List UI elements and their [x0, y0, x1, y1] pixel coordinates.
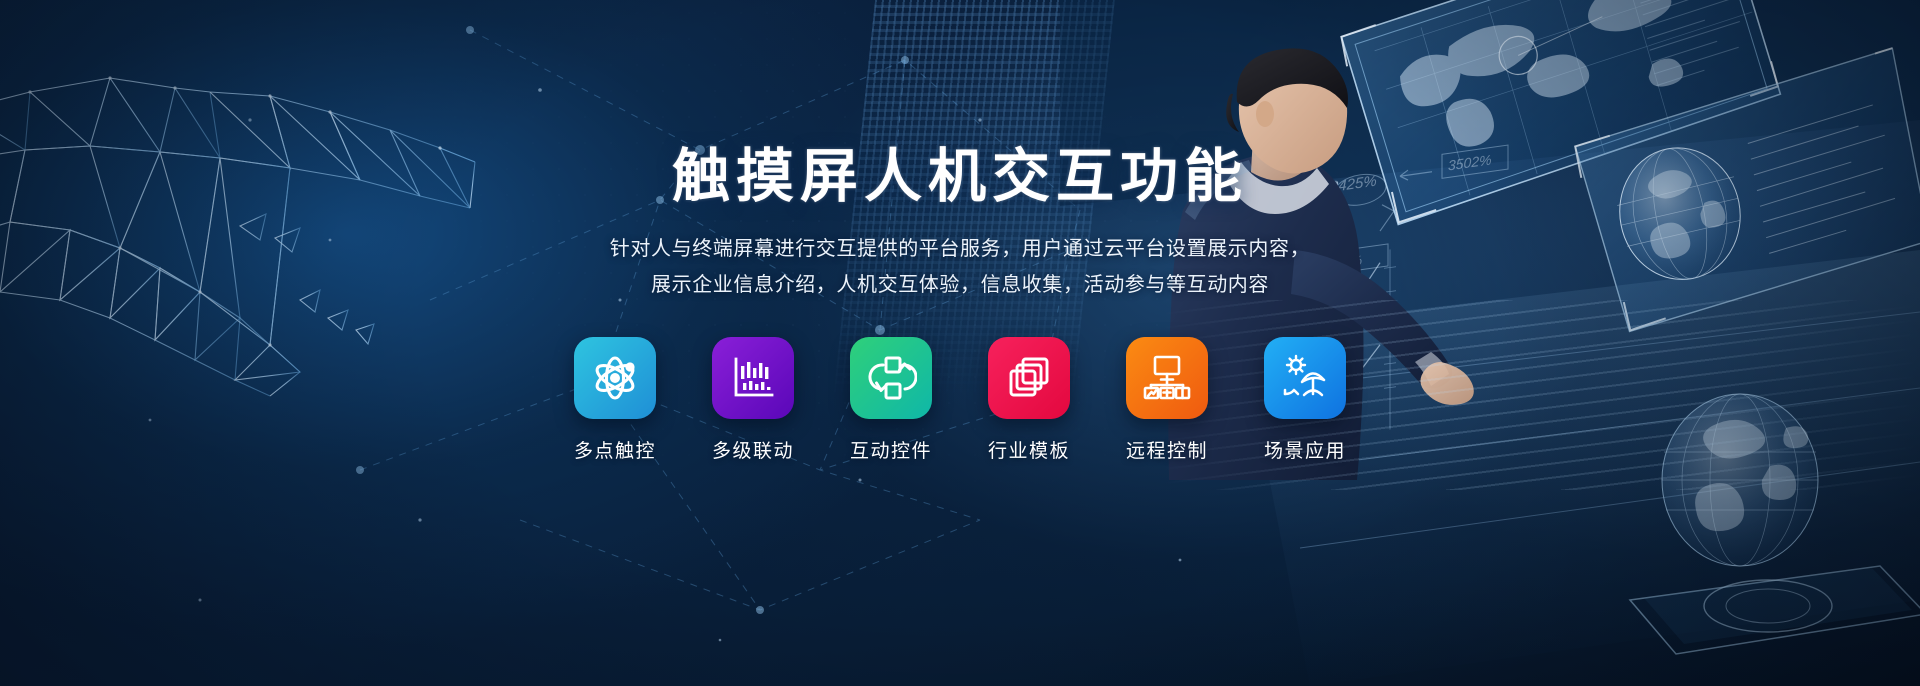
feature-label-remote-control: 远程控制	[1126, 436, 1208, 463]
banner-subtitle: 针对人与终端屏幕进行交互提供的平台服务，用户通过云平台设置展示内容， 展示企业信…	[610, 232, 1310, 303]
feature-tile-remote-control[interactable]	[1126, 337, 1208, 419]
remote-network-icon	[1141, 352, 1193, 404]
banner-content: 触摸屏人机交互功能 针对人与终端屏幕进行交互提供的平台服务，用户通过云平台设置展…	[0, 0, 1920, 686]
beach-scene-icon	[1279, 352, 1331, 404]
bar-chart-icon	[727, 352, 779, 404]
feature-label-scene-application: 场景应用	[1264, 436, 1346, 463]
feature-icon-row: 多点触控	[567, 337, 1353, 463]
feature-label-multilevel-linkage: 多级联动	[712, 436, 794, 463]
feature-tile-industry-template[interactable]	[988, 337, 1070, 419]
feature-label-interactive-widget: 互动控件	[850, 436, 932, 463]
page-title: 触摸屏人机交互功能	[672, 148, 1248, 206]
layers-icon	[1003, 352, 1055, 404]
feature-item-remote-control[interactable]: 远程控制	[1119, 337, 1215, 463]
subtitle-line-1: 针对人与终端屏幕进行交互提供的平台服务，用户通过云平台设置展示内容，	[610, 232, 1310, 268]
sync-blocks-icon	[865, 352, 917, 404]
feature-item-multitouch[interactable]: 多点触控	[567, 337, 663, 463]
feature-item-multilevel-linkage[interactable]: 多级联动	[705, 337, 801, 463]
feature-item-industry-template[interactable]: 行业模板	[981, 337, 1077, 463]
feature-label-industry-template: 行业模板	[988, 436, 1070, 463]
feature-item-scene-application[interactable]: 场景应用	[1257, 337, 1353, 463]
feature-tile-interactive-widget[interactable]	[850, 337, 932, 419]
feature-tile-multitouch[interactable]	[574, 337, 656, 419]
feature-tile-scene-application[interactable]	[1264, 337, 1346, 419]
feature-tile-multilevel-linkage[interactable]	[712, 337, 794, 419]
feature-item-interactive-widget[interactable]: 互动控件	[843, 337, 939, 463]
feature-label-multitouch: 多点触控	[574, 436, 656, 463]
atom-icon	[589, 352, 641, 404]
subtitle-line-2: 展示企业信息介绍，人机交互体验，信息收集，活动参与等互动内容	[610, 268, 1310, 304]
touchscreen-feature-banner: ASIA WORLD MAP	[0, 0, 1920, 686]
